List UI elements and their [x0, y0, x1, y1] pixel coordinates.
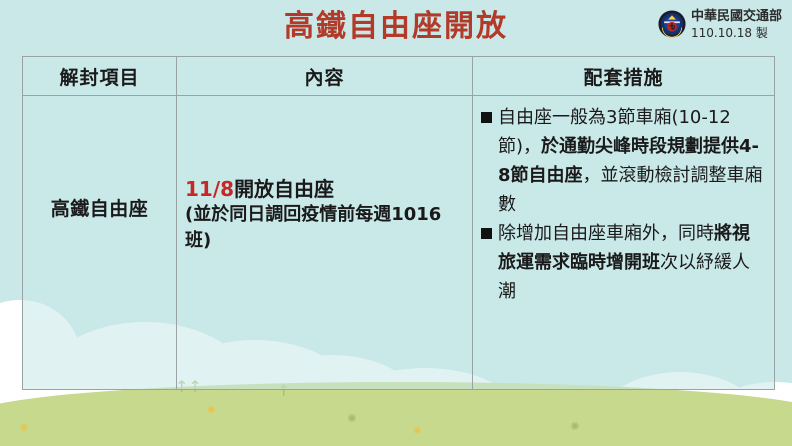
table-header-content: 內容 — [177, 57, 473, 95]
policy-table: 解封項目 內容 配套措施 高鐵自由座 11/8開放自由座 (並於同日調回疫情前每… — [22, 56, 775, 390]
sprig-icon: ✺ — [345, 412, 359, 426]
table-header-measures: 配套措施 — [473, 57, 774, 95]
flower-icon: ✺ — [20, 424, 32, 434]
grass-foreground — [0, 410, 792, 446]
measure-text: 自由座一般為3節車廂(10-12節)，於通勤尖峰時段規劃提供4-8節自由座，並滾… — [498, 103, 766, 219]
table-header-item: 解封項目 — [23, 57, 177, 95]
cell-item-name: 高鐵自由座 — [23, 96, 177, 389]
sprig-icon: ✺ — [568, 420, 582, 434]
brand-block: 中華民國交通部 110.10.18 製 — [658, 9, 782, 41]
moj-transportation-emblem-icon — [658, 10, 686, 38]
table-header-row: 解封項目 內容 配套措施 — [23, 57, 774, 96]
content-line-2: (並於同日調回疫情前每週1016班) — [185, 202, 464, 254]
content-date-highlight: 11/8 — [185, 177, 234, 201]
square-bullet-icon — [481, 228, 492, 239]
brand-text: 中華民國交通部 110.10.18 製 — [691, 9, 782, 41]
brand-date: 110.10.18 製 — [691, 26, 782, 41]
measure-bullet-item: 自由座一般為3節車廂(10-12節)，於通勤尖峰時段規劃提供4-8節自由座，並滾… — [481, 103, 766, 219]
flower-icon: ✺ — [207, 406, 219, 416]
table-row: 高鐵自由座 11/8開放自由座 (並於同日調回疫情前每週1016班) 自由座一般… — [23, 96, 774, 389]
content-line-1: 11/8開放自由座 — [185, 176, 464, 202]
flower-icon: ✺ — [413, 427, 425, 437]
measure-segment: 除增加自由座車廂外，同時 — [498, 223, 714, 244]
brand-organization: 中華民國交通部 — [691, 9, 782, 25]
measure-bullet-item: 除增加自由座車廂外，同時將視旅運需求臨時增開班次以紓緩人潮 — [481, 219, 766, 306]
content-line-1-rest: 開放自由座 — [234, 177, 334, 201]
slide-canvas: ↑↑ ↑ ✺ ✺ ✺ ✺ ✺ 高鐵自由座開放 中華民國交通部 110.10.18… — [0, 0, 792, 446]
cell-measures: 自由座一般為3節車廂(10-12節)，於通勤尖峰時段規劃提供4-8節自由座，並滾… — [473, 96, 774, 389]
square-bullet-icon — [481, 112, 492, 123]
cell-content: 11/8開放自由座 (並於同日調回疫情前每週1016班) — [177, 96, 473, 389]
measure-text: 除增加自由座車廂外，同時將視旅運需求臨時增開班次以紓緩人潮 — [498, 219, 766, 306]
